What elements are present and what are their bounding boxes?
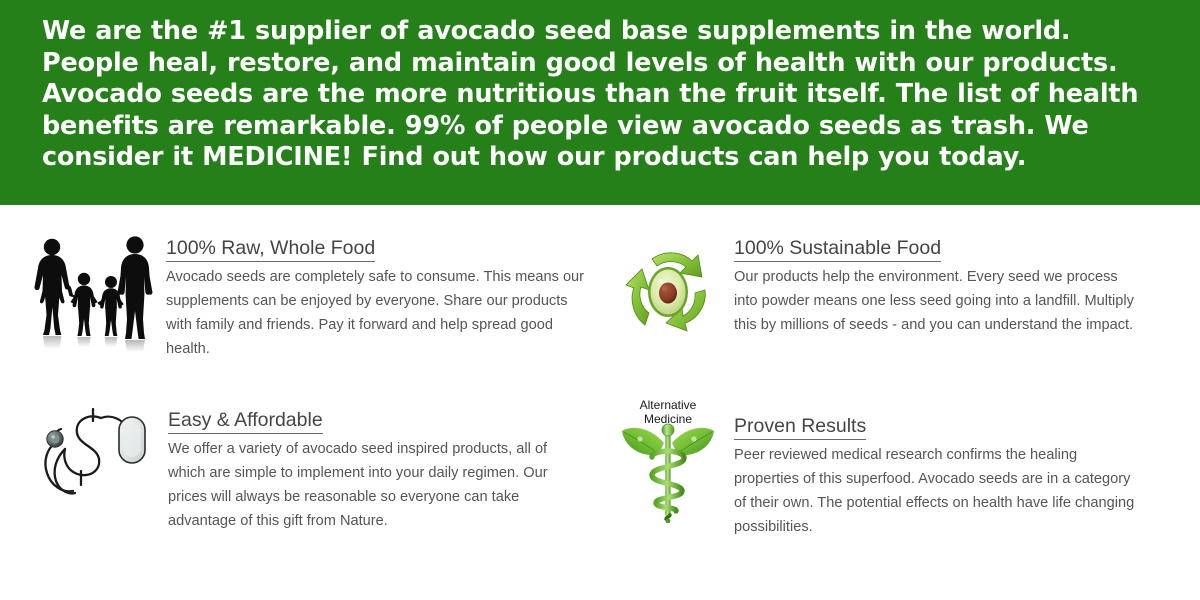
family-silhouette-icon	[18, 235, 166, 361]
feature-title: Proven Results	[734, 415, 866, 440]
feature-title: 100% Raw, Whole Food	[166, 237, 375, 262]
feature-description: Peer reviewed medical research confirms …	[734, 443, 1144, 539]
caduceus-leaves-icon: Alternative Medicine	[608, 395, 728, 539]
feature-proven-results: Alternative Medicine	[600, 395, 1200, 539]
hero-banner: We are the #1 supplier of avocado seed b…	[0, 0, 1200, 205]
recycling-avocado-icon	[608, 237, 728, 361]
hero-headline: We are the #1 supplier of avocado seed b…	[42, 16, 1160, 174]
feature-sustainable-food: 100% Sustainable Food Our products help …	[600, 235, 1200, 361]
feature-row-2: Easy & Affordable We offer a variety of …	[0, 395, 1200, 539]
features-section: 100% Raw, Whole Food Avocado seeds are c…	[0, 235, 1200, 539]
feature-body: Easy & Affordable We offer a variety of …	[168, 395, 600, 539]
feature-row-1: 100% Raw, Whole Food Avocado seeds are c…	[0, 235, 1200, 361]
feature-title: Easy & Affordable	[168, 409, 323, 434]
icon-caption-line-1: Alternative	[640, 398, 697, 412]
feature-body: 100% Raw, Whole Food Avocado seeds are c…	[166, 235, 600, 361]
feature-title: 100% Sustainable Food	[734, 237, 941, 262]
feature-body: 100% Sustainable Food Our products help …	[728, 235, 1200, 361]
stethoscope-dollar-icon	[18, 403, 168, 539]
feature-description: We offer a variety of avocado seed inspi…	[168, 437, 568, 533]
feature-easy-affordable: Easy & Affordable We offer a variety of …	[0, 395, 600, 539]
feature-description: Avocado seeds are completely safe to con…	[166, 265, 586, 361]
feature-description: Our products help the environment. Every…	[734, 265, 1144, 337]
feature-body: Proven Results Peer reviewed medical res…	[728, 395, 1200, 539]
feature-raw-whole-food: 100% Raw, Whole Food Avocado seeds are c…	[0, 235, 600, 361]
